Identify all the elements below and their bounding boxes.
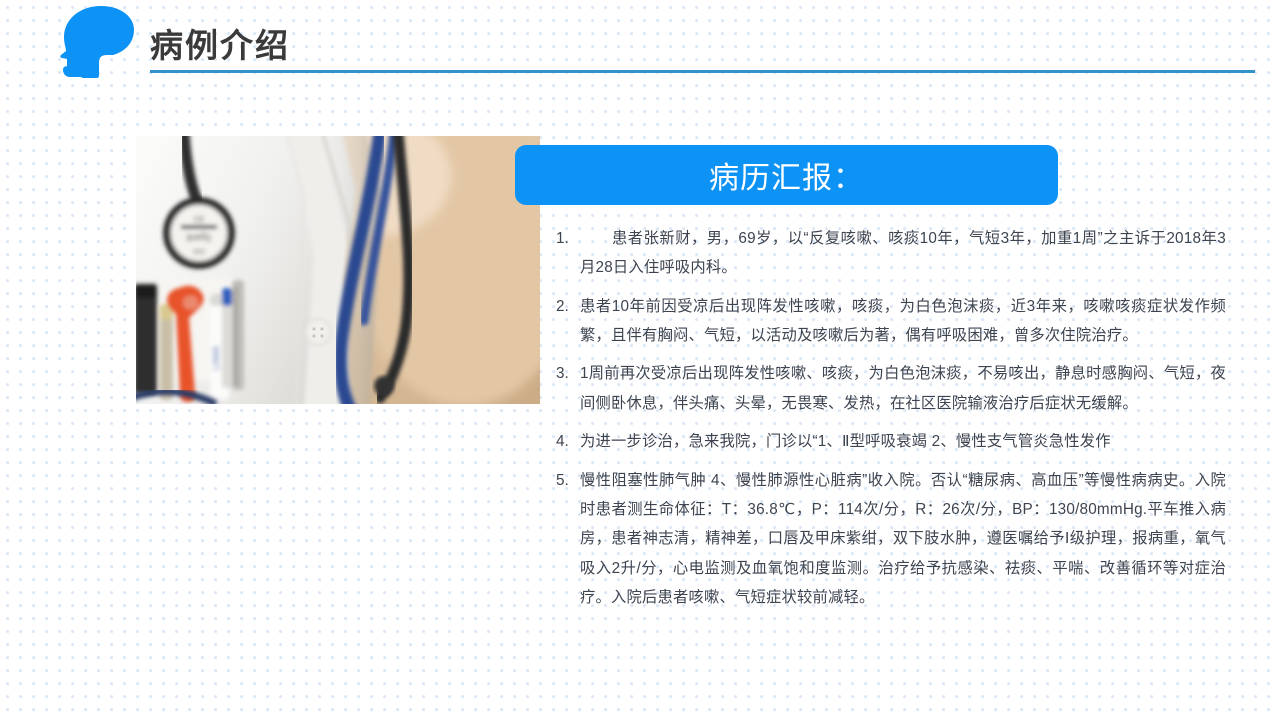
list-item-text: 慢性阻塞性肺气肿 4、慢性肺源性心脏病”收入院。否认“糖尿病、高血压”等慢性病病… [580,466,1226,613]
page-title: 病例介绍 [150,19,290,67]
head-profile-icon [57,6,141,78]
list-item-number: 3. [556,359,580,388]
doctor-photo: CE Spirit ISO L [136,136,540,404]
list-item-number: 5. [556,466,580,495]
list-item-text: 患者张新财，男，69岁，以“反复咳嗽、咳痰10年，气短3年，加重1周”之主诉于2… [580,224,1226,283]
list-item: 1. 患者张新财，男，69岁，以“反复咳嗽、咳痰10年，气短3年，加重1周”之主… [556,224,1226,283]
list-item-number: 4. [556,427,580,456]
case-report-list: 1. 患者张新财，男，69岁，以“反复咳嗽、咳痰10年，气短3年，加重1周”之主… [556,224,1226,612]
svg-text:ISO: ISO [193,249,206,256]
list-item-number: 2. [556,292,580,321]
svg-text:LAMA: LAMA [211,346,221,371]
header-divider [150,70,1255,73]
svg-text:CE: CE [193,215,204,224]
report-banner: 病历汇报： [515,145,1058,205]
slide-header: 病例介绍 [0,0,1280,90]
list-item: 4. 为进一步诊治，急来我院，门诊以“1、Ⅱ型呼吸衰竭 2、慢性支气管炎急性发作 [556,427,1226,456]
list-item: 5. 慢性阻塞性肺气肿 4、慢性肺源性心脏病”收入院。否认“糖尿病、高血压”等慢… [556,466,1226,613]
list-item: 3. 1周前再次受凉后出现阵发性咳嗽、咳痰，为白色泡沫痰，不易咳出，静息时感胸闷… [556,359,1226,418]
list-item-text: 患者10年前因受凉后出现阵发性咳嗽，咳痰，为白色泡沫痰，近3年来，咳嗽咳痰症状发… [580,292,1226,351]
report-banner-label: 病历汇报： [709,153,864,197]
list-item-number: 1. [556,224,580,253]
list-item-text: 1周前再次受凉后出现阵发性咳嗽、咳痰，为白色泡沫痰，不易咳出，静息时感胸闷、气短… [580,359,1226,418]
svg-text:Spirit: Spirit [186,231,211,243]
list-item-text: 为进一步诊治，急来我院，门诊以“1、Ⅱ型呼吸衰竭 2、慢性支气管炎急性发作 [580,427,1226,456]
slide-canvas: 病例介绍 [0,0,1280,720]
list-item: 2. 患者10年前因受凉后出现阵发性咳嗽，咳痰，为白色泡沫痰，近3年来，咳嗽咳痰… [556,292,1226,351]
